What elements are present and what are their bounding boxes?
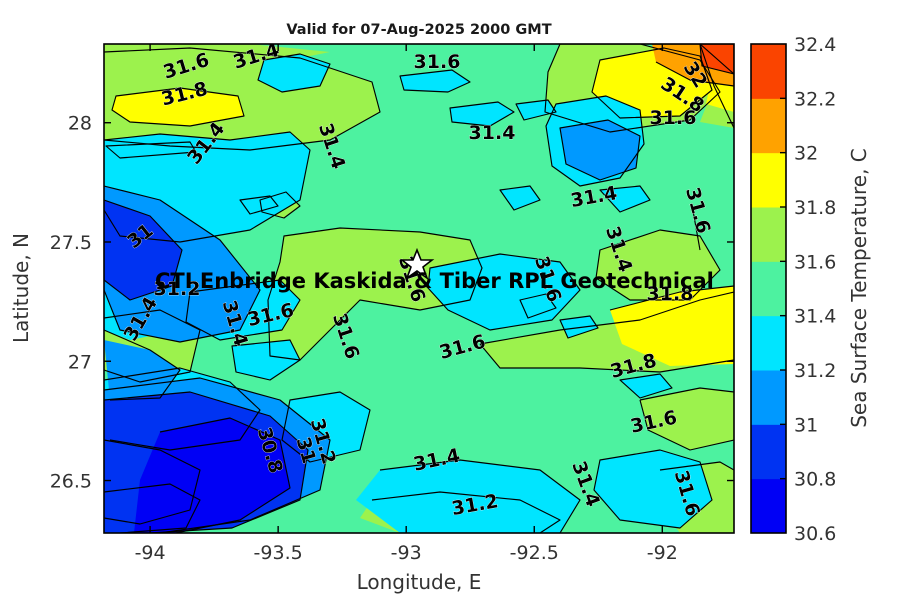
colorbar-tick-label: 31 [794,414,818,436]
colorbar-label: Sea Surface Temperature, C [847,148,871,428]
colorbar-tick-label: 32 [794,143,818,165]
y-tick-label: 27.5 [50,232,92,254]
colorbar-band [751,98,786,153]
y-axis-label: Latitude, N [9,233,33,343]
contour-label: 31.6 [650,107,697,129]
colorbar-band [751,479,786,534]
colorbar-band [751,153,786,208]
contour-map: 31.631.431.63231.831.831.631.431.431.431… [104,39,734,533]
station-label: CTI Enbridge Kaskida & Tiber RPL Geotech… [155,269,714,293]
colorbar-tick-label: 32.2 [794,88,836,110]
contour-label: 31.4 [469,122,516,144]
colorbar-tick-label: 30.8 [794,469,836,491]
x-tick-label: -93.5 [254,542,303,564]
colorbar-band [751,261,786,316]
sst-contour-figure: 31.631.431.63231.831.831.631.431.431.431… [0,0,900,600]
contour-label: 31.6 [414,51,461,73]
x-tick-label: -94 [135,542,166,564]
colorbar-tick-label: 32.4 [794,34,836,56]
colorbar-band [751,424,786,479]
colorbar-band [751,370,786,425]
x-tick-label: -92 [647,542,678,564]
colorbar-tick-label: 30.6 [794,523,836,545]
y-tick-label: 27 [68,351,92,373]
x-tick-label: -92.5 [510,542,559,564]
colorbar-band [751,207,786,262]
colorbar-band [751,44,786,99]
x-axis-label: Longitude, E [357,570,482,594]
figure-title: Valid for 07-Aug-2025 2000 GMT [286,22,551,38]
colorbar-band [751,316,786,371]
colorbar-tick-label: 31.4 [794,306,836,328]
colorbar-tick-label: 31.2 [794,360,836,382]
colorbar-bands [751,44,786,534]
colorbar-tick-label: 31.6 [794,251,836,273]
colorbar-tick-label: 31.8 [794,197,836,219]
x-tick-label: -93 [391,542,422,564]
y-tick-label: 26.5 [50,471,92,493]
y-tick-label: 28 [68,113,92,135]
